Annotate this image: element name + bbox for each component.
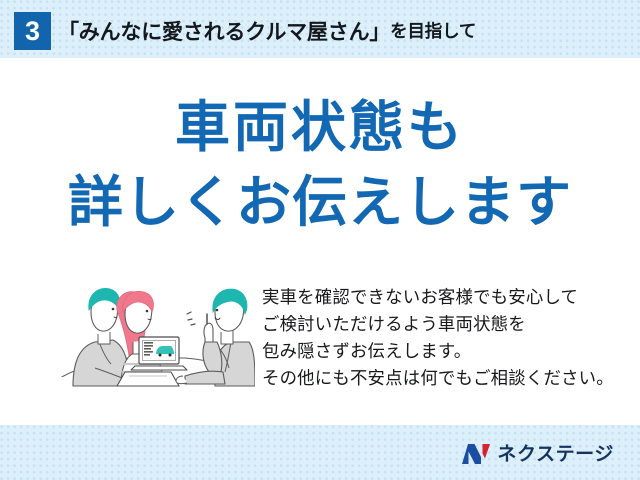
body-line-2: ご検討いただけるよう車両状態を <box>262 311 612 338</box>
body-line-3: 包み隠さずお伝えします。 <box>262 338 612 365</box>
header-title: 「みんなに愛されるクルマ屋さん」 を目指して <box>58 13 476 49</box>
header-title-tail: を目指して <box>390 18 476 44</box>
nextage-n-mark <box>461 443 491 465</box>
body-copy: 実車を確認できないお客様でも安心して ご検討いただけるよう車両状態を 包み隠さず… <box>262 284 612 392</box>
page-title: 車両状態も 詳しくお伝えします <box>0 100 640 230</box>
body-line-1: 実車を確認できないお客様でも安心して <box>262 284 612 311</box>
header-title-quote: 「みんなに愛されるクルマ屋さん」 <box>58 16 390 46</box>
brand-logo: ネクステージ <box>461 441 614 467</box>
headline-line-2: 詳しくお伝えします <box>0 175 640 230</box>
headline-line-1: 車両状態も <box>0 100 640 155</box>
body-line-4: その他にも不安点は何でもご相談ください。 <box>262 365 612 392</box>
step-number-badge: 3 <box>14 12 51 50</box>
consultation-illustration <box>55 276 255 394</box>
slide-root: 3 「みんなに愛されるクルマ屋さん」 を目指して 車両状態も 詳しくお伝えします <box>0 0 640 480</box>
brand-logo-text: ネクステージ <box>497 445 614 464</box>
